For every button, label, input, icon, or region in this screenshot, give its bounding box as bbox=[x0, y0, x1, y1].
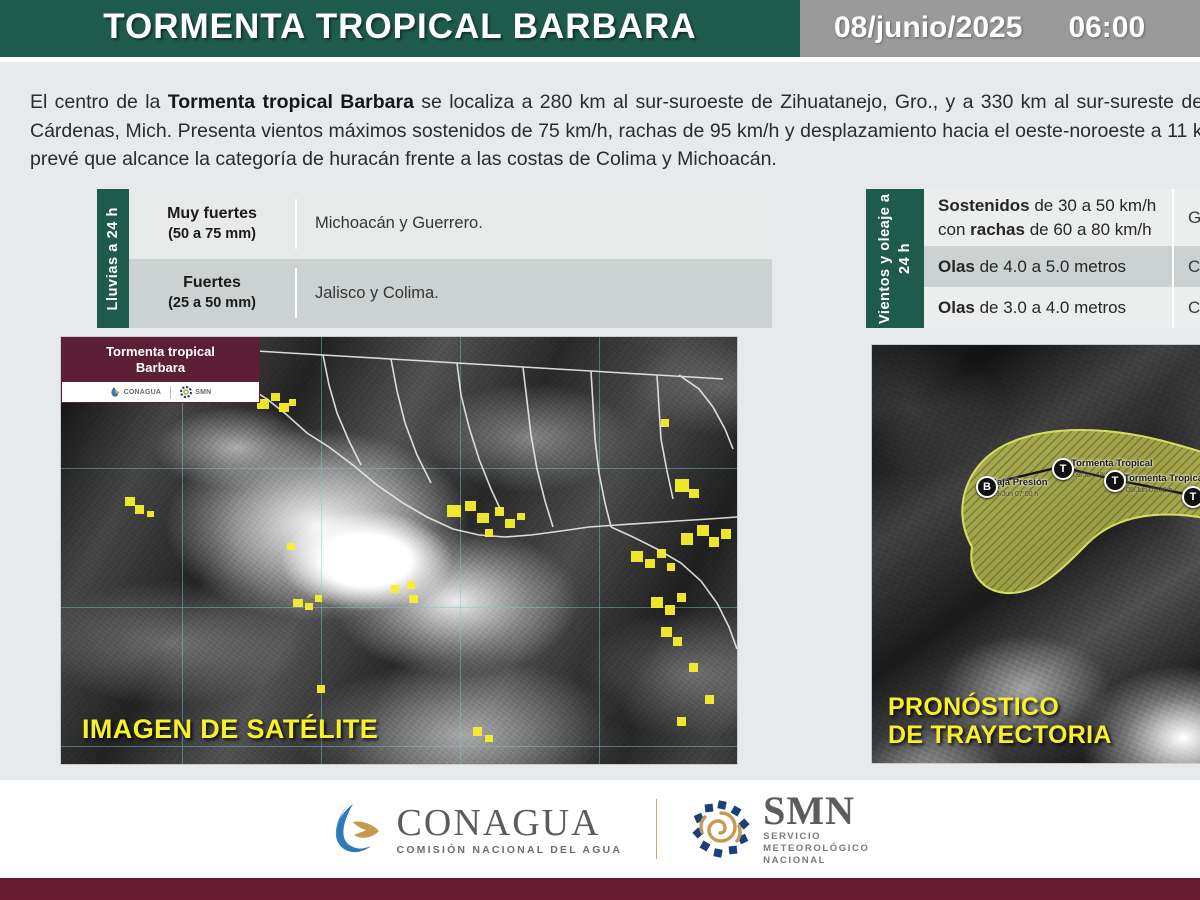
track-caption: PRONÓSTICO DE TRAYECTORIA bbox=[888, 693, 1112, 749]
wave-desc-cell: Olas de 3.0 a 4.0 metros bbox=[924, 287, 1174, 328]
wave-desc-cell: Olas de 4.0 a 5.0 metros bbox=[924, 246, 1174, 287]
track-point-marker-3[interactable]: T bbox=[1182, 486, 1200, 508]
smn-logo: SMN SERVICIO METEOROLÓGICO NACIONAL bbox=[691, 791, 869, 867]
satellite-caption: IMAGEN DE SATÉLITE bbox=[82, 714, 378, 745]
smn-mini-label: SMN bbox=[195, 389, 211, 396]
wind-table-side-label: Vientos y oleaje a 24 h bbox=[866, 189, 924, 328]
wave-zone-cell: Co bbox=[1174, 257, 1200, 277]
satellite-badge-title-line1: Tormenta tropical bbox=[67, 344, 254, 360]
table-row: Muy fuertes (50 a 75 mm) Michoacán y Gue… bbox=[129, 189, 772, 259]
conagua-mini-logo: CONAGUA bbox=[110, 386, 162, 398]
track-point-marker-2[interactable]: T bbox=[1104, 470, 1126, 492]
smn-subtitle-line2: METEOROLÓGICO bbox=[763, 843, 869, 855]
smn-spiral-icon bbox=[180, 386, 192, 398]
wind-sustained-value: de 30 a 50 km/h bbox=[1030, 196, 1157, 215]
wind-table-side-label-text: Vientos y oleaje a 24 h bbox=[875, 189, 915, 328]
table-row: Olas de 3.0 a 4.0 metros Co bbox=[924, 287, 1200, 328]
track-point-label-2: Tormenta Tropical bbox=[1124, 473, 1200, 484]
track-point-label-1: Tormenta Tropical bbox=[1071, 458, 1153, 469]
track-point-marker-0[interactable]: B bbox=[976, 476, 998, 498]
page-footer: CONAGUA COMISIÓN NACIONAL DEL AGUA bbox=[0, 780, 1200, 878]
track-caption-line2: DE TRAYECTORIA bbox=[888, 721, 1112, 749]
footer-divider bbox=[656, 799, 657, 859]
conagua-eagle-water-icon bbox=[331, 800, 383, 858]
rain-table-body: Muy fuertes (50 a 75 mm) Michoacán y Gue… bbox=[129, 189, 772, 328]
track-point-sub-2: 09/Jun 07:00 h bbox=[1126, 487, 1172, 494]
wind-gust-label: rachas bbox=[970, 220, 1025, 239]
badge-logo-divider bbox=[170, 386, 171, 399]
rain-table: Lluvias a 24 h Muy fuertes (50 a 75 mm) … bbox=[97, 189, 772, 328]
conagua-mini-label: CONAGUA bbox=[124, 389, 162, 396]
track-caption-line1: PRONÓSTICO bbox=[888, 693, 1112, 721]
wave-zone-cell: Co bbox=[1174, 298, 1200, 318]
rain-level-amount: (25 a 50 mm) bbox=[129, 293, 295, 314]
smn-mini-logo: SMN bbox=[180, 386, 211, 398]
wind-wave-table: Vientos y oleaje a 24 h Sostenidos de 30… bbox=[866, 189, 1200, 328]
satellite-badge-logos: CONAGUA SMN bbox=[62, 382, 259, 402]
satellite-storm-badge: Tormenta tropical Barbara CONAGUA bbox=[61, 337, 260, 403]
wave-value: de 3.0 a 4.0 metros bbox=[975, 298, 1126, 317]
satellite-image-panel: Tormenta tropical Barbara CONAGUA bbox=[61, 337, 737, 764]
rain-level-name: Muy fuertes bbox=[129, 203, 295, 224]
smn-wordmark: SMN SERVICIO METEOROLÓGICO NACIONAL bbox=[763, 791, 869, 867]
wave-label: Olas bbox=[938, 298, 975, 317]
conagua-word: CONAGUA bbox=[397, 803, 623, 843]
wind-gust-value: de 60 a 80 km/h bbox=[1025, 220, 1152, 239]
header-time: 06:00 bbox=[1068, 11, 1145, 45]
wind-desc-cell: Sostenidos de 30 a 50 km/h con rachas de… bbox=[924, 189, 1174, 246]
rain-level-cell: Muy fuertes (50 a 75 mm) bbox=[129, 199, 297, 249]
header-underline bbox=[0, 57, 1200, 62]
table-row: Fuertes (25 a 50 mm) Jalisco y Colima. bbox=[129, 259, 772, 329]
conagua-drop-icon bbox=[110, 386, 121, 398]
header-title-bar: TORMENTA TROPICAL BARBARA bbox=[0, 0, 800, 57]
summary-storm-name: Tormenta tropical Barbara bbox=[168, 91, 414, 113]
satellite-badge-title: Tormenta tropical Barbara bbox=[61, 343, 260, 382]
rain-level-name: Fuertes bbox=[129, 272, 295, 293]
conagua-subtitle: COMISIÓN NACIONAL DEL AGUA bbox=[397, 844, 623, 856]
rain-states-cell: Jalisco y Colima. bbox=[297, 284, 772, 303]
wind-gust-prefix: con bbox=[938, 220, 970, 239]
conagua-logo: CONAGUA COMISIÓN NACIONAL DEL AGUA bbox=[331, 800, 623, 858]
rain-states-cell: Michoacán y Guerrero. bbox=[297, 214, 772, 233]
wave-value: de 4.0 a 5.0 metros bbox=[975, 257, 1126, 276]
rain-table-side-label-text: Lluvias a 24 h bbox=[105, 207, 121, 311]
summary-text-1: El centro de la bbox=[30, 91, 168, 113]
lightning-markers bbox=[125, 393, 731, 742]
forecast-track-panel: B Baja Presión 09/Jun 07:00 h T Tormenta… bbox=[872, 345, 1200, 763]
smn-spiral-icon bbox=[691, 799, 751, 859]
table-row: Olas de 4.0 a 5.0 metros Co bbox=[924, 246, 1200, 287]
conagua-wordmark: CONAGUA COMISIÓN NACIONAL DEL AGUA bbox=[397, 803, 623, 856]
wave-label: Olas bbox=[938, 257, 975, 276]
page-header: TORMENTA TROPICAL BARBARA 08/junio/2025 … bbox=[0, 0, 1200, 57]
smn-subtitle-line3: NACIONAL bbox=[763, 855, 869, 867]
table-row: Sostenidos de 30 a 50 km/h con rachas de… bbox=[924, 189, 1200, 246]
wind-zone-cell: Gu bbox=[1174, 208, 1200, 228]
summary-paragraph: El centro de la Tormenta tropical Barbar… bbox=[30, 88, 1200, 174]
header-date: 08/junio/2025 bbox=[834, 11, 1022, 45]
track-point-sub-0: 09/Jun 07:00 h bbox=[992, 491, 1038, 498]
wind-sustained-label: Sostenidos bbox=[938, 196, 1030, 215]
page-title: TORMENTA TROPICAL BARBARA bbox=[103, 7, 696, 47]
smn-word: SMN bbox=[763, 791, 869, 831]
wind-table-body: Sostenidos de 30 a 50 km/h con rachas de… bbox=[924, 189, 1200, 328]
satellite-imagery: Tormenta tropical Barbara CONAGUA bbox=[61, 337, 737, 764]
rain-table-side-label: Lluvias a 24 h bbox=[97, 189, 129, 328]
satellite-badge-title-line2: Barbara bbox=[67, 360, 254, 376]
header-date-bar: 08/junio/2025 06:00 bbox=[800, 0, 1200, 57]
bottom-accent-bar bbox=[0, 878, 1200, 900]
rain-level-amount: (50 a 75 mm) bbox=[129, 224, 295, 245]
track-point-marker-1[interactable]: T bbox=[1052, 458, 1074, 480]
track-point-label-0: Baja Presión bbox=[990, 477, 1048, 488]
rain-level-cell: Fuertes (25 a 50 mm) bbox=[129, 268, 297, 318]
